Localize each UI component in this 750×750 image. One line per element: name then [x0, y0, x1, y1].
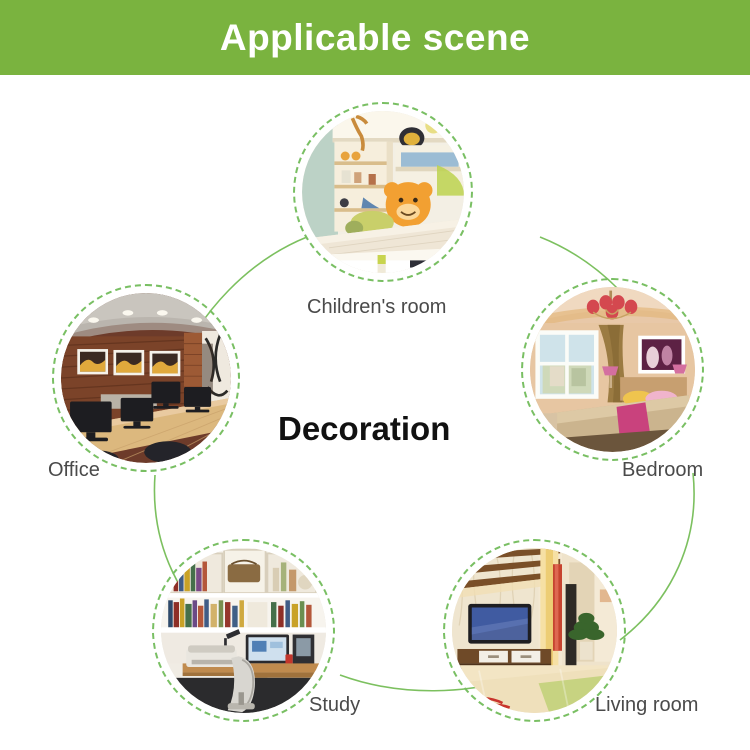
- bedroom-photo: [530, 287, 695, 452]
- node-bedroom[interactable]: [521, 278, 704, 461]
- header-banner: Applicable scene: [0, 0, 750, 75]
- node-label-living-room: Living room: [595, 695, 698, 715]
- node-study[interactable]: [152, 539, 335, 722]
- office-photo: [61, 293, 231, 463]
- childrens-room-photo: [302, 111, 464, 273]
- node-label-study: Study: [309, 695, 360, 715]
- diagram-stage: Children's room: [0, 75, 750, 750]
- applicable-scene-infographic: Applicable scene: [0, 0, 750, 750]
- node-childrens-room[interactable]: [293, 102, 473, 282]
- node-label-office: Office: [48, 460, 100, 480]
- page-title: Applicable scene: [220, 19, 530, 56]
- node-label-bedroom: Bedroom: [622, 460, 703, 480]
- node-label-childrens-room: Children's room: [307, 297, 446, 317]
- arc-living-room-bedroom: [620, 473, 694, 640]
- node-office[interactable]: [52, 284, 240, 472]
- study-photo: [161, 548, 326, 713]
- living-room-photo: [452, 548, 617, 713]
- center-title: Decoration: [278, 412, 450, 445]
